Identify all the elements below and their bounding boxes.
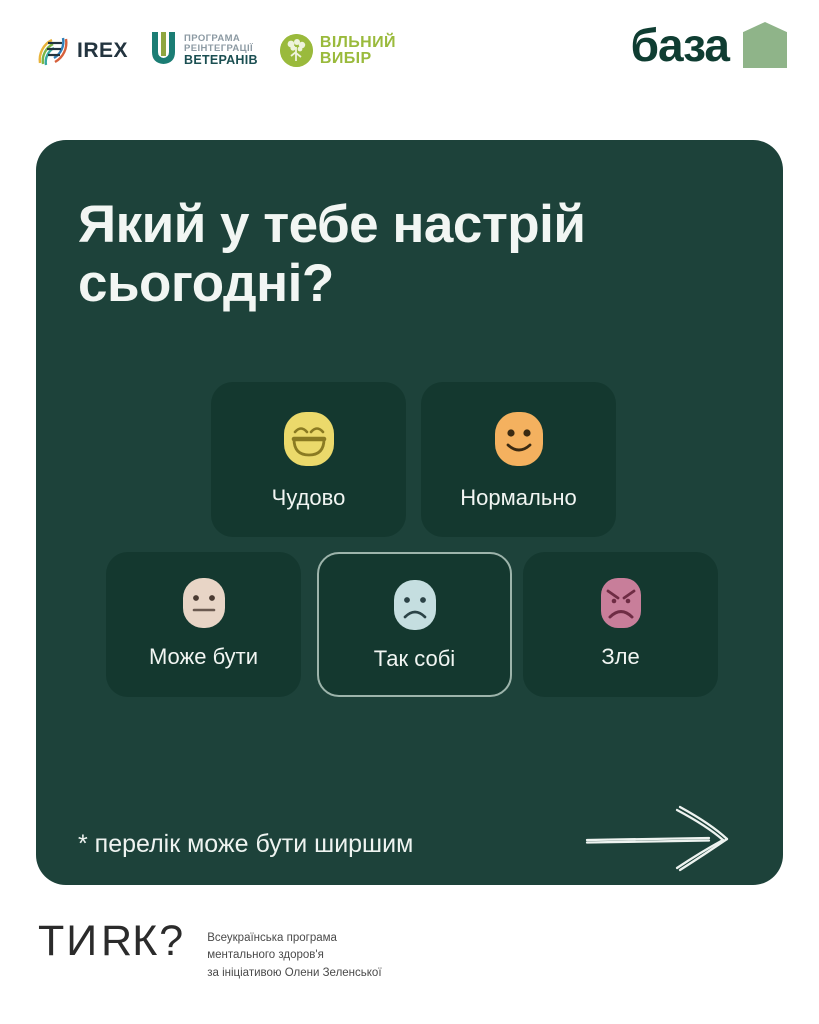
footer-desc-line-3: за ініціативою Олени Зеленської: [207, 965, 381, 982]
mood-option-great[interactable]: Чудово: [211, 382, 406, 537]
mood-label-ok: Може бути: [149, 644, 258, 670]
ty-yak-logo-part2: Я: [99, 920, 132, 963]
mood-label-soso: Так собі: [374, 646, 455, 672]
free-choice-logo-text: ВІЛЬНИЙ ВИБІР: [320, 35, 396, 67]
veterans-logo-text: ПРОГРАМА РЕІНТЕГРАЦІЇ ВЕТЕРАНІВ: [184, 34, 258, 66]
mood-label-normal: Нормально: [460, 485, 576, 511]
free-choice-line-1: ВІЛЬНИЙ: [320, 35, 396, 51]
free-choice-line-2: ВИБІР: [320, 51, 396, 67]
laughing-face-icon: [278, 408, 340, 470]
footer-desc-line-1: Всеукраїнська програма: [207, 930, 381, 947]
mood-label-bad: Зле: [601, 644, 639, 670]
ty-yak-logo-part3: К?: [132, 920, 185, 963]
ty-yak-logo-part1: ТИ: [38, 920, 99, 963]
mood-option-bad[interactable]: Зле: [523, 552, 718, 697]
baza-brand-logo: база: [631, 22, 787, 68]
smiling-face-icon: [488, 408, 550, 470]
ty-yak-program-footer: ТИ ЯК? Всеукраїнська програма ментальног…: [38, 920, 382, 982]
partner-logos: IREX ПРОГРАМА РЕІНТЕГРАЦІЇ ВЕТЕРАНІВ: [36, 30, 396, 71]
mood-label-great: Чудово: [272, 485, 346, 511]
tree-logo-icon: [280, 34, 313, 67]
footer-description: Всеукраїнська програма ментального здоро…: [207, 920, 381, 982]
mood-option-normal[interactable]: Нормально: [421, 382, 616, 537]
veterans-logo: ПРОГРАМА РЕІНТЕГРАЦІЇ ВЕТЕРАНІВ: [150, 30, 258, 71]
irex-logo: IREX: [36, 34, 128, 68]
mood-option-soso[interactable]: Так собі: [317, 552, 512, 697]
mood-option-ok[interactable]: Може бути: [106, 552, 301, 697]
footer-desc-line-2: ментального здоров'я: [207, 947, 381, 964]
partner-logo-bar: IREX ПРОГРАМА РЕІНТЕГРАЦІЇ ВЕТЕРАНІВ: [0, 0, 819, 110]
mood-survey-panel: Який у тебе настрій сьогодні? Чудово: [36, 140, 783, 885]
veterans-logo-icon: [150, 30, 177, 71]
baza-wordmark: база: [631, 22, 729, 68]
veterans-line-3: ВЕТЕРАНІВ: [184, 54, 258, 67]
irex-logo-text: IREX: [77, 39, 128, 63]
footnote-text: * перелік може бути ширшим: [78, 830, 413, 859]
angry-face-icon: [593, 575, 649, 631]
sad-face-icon: [387, 577, 443, 633]
hand-drawn-right-arrow-icon[interactable]: [581, 800, 741, 880]
irex-logo-icon: [36, 34, 70, 68]
free-choice-logo: ВІЛЬНИЙ ВИБІР: [280, 34, 396, 67]
neutral-face-icon: [176, 575, 232, 631]
ty-yak-logo: ТИ ЯК?: [38, 920, 185, 963]
mood-options-grid: Чудово Нормально: [36, 140, 783, 885]
baza-pentagon-icon: [743, 22, 787, 68]
